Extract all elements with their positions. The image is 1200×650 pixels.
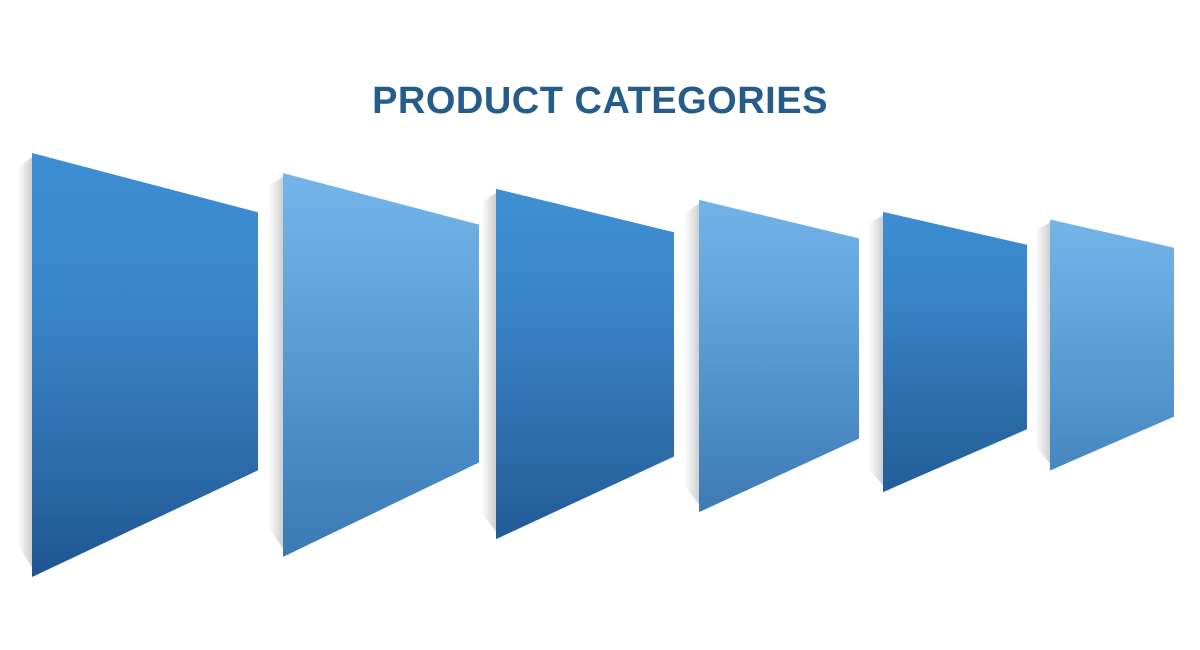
card-background xyxy=(1050,217,1174,473)
card-background xyxy=(699,197,859,515)
card-background xyxy=(32,150,258,580)
category-card-food-steamer[interactable]: Food Steamer xyxy=(283,170,479,560)
product-categories-banner: PRODUCT CATEGORIES xyxy=(0,0,1200,650)
category-card-dishwasher[interactable]: Dishwasher xyxy=(1050,217,1174,473)
category-card-worktable-sink[interactable]: Worktable & Sink xyxy=(699,197,859,515)
category-card-bain-maire[interactable]: Bain Maire xyxy=(496,186,674,542)
card-background xyxy=(883,209,1027,495)
card-background xyxy=(496,186,674,542)
category-card-clay-pot-rice-cooker[interactable]: Clay Pot Rice Cooker xyxy=(883,209,1027,495)
page-title: PRODUCT CATEGORIES xyxy=(0,80,1200,123)
card-background xyxy=(283,170,479,560)
category-card-refrigerators[interactable]: Refrigerators & Cold Flat Work Tables xyxy=(32,150,258,580)
